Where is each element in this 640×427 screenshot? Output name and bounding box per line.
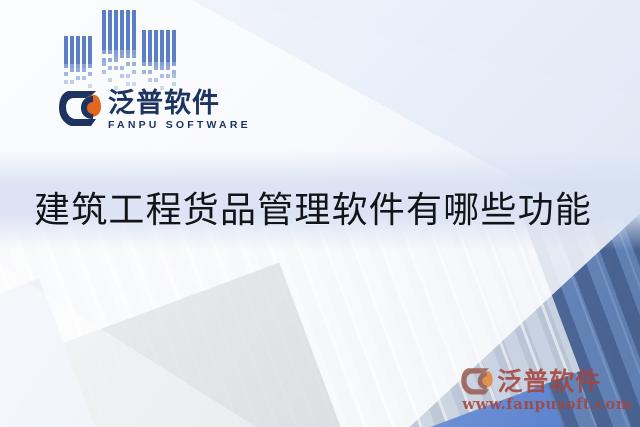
watermark: 泛普软件 www.fanpusoft.com xyxy=(460,366,632,413)
promo-banner: 泛普软件 FANPU SOFTWARE 建筑工程货品管理软件有哪些功能 泛普软件… xyxy=(0,0,640,427)
logo-name-cn: 泛普软件 xyxy=(108,89,251,118)
page-title: 建筑工程货品管理软件有哪些功能 xyxy=(34,188,592,234)
watermark-url: www.fanpusoft.com xyxy=(462,395,632,413)
logo-name-en: FANPU SOFTWARE xyxy=(108,119,251,132)
pixel-skyline-icon xyxy=(64,8,214,94)
watermark-row: 泛普软件 xyxy=(460,366,601,396)
fanpu-swoosh-icon xyxy=(58,88,102,128)
brand-logo: 泛普软件 FANPU SOFTWARE xyxy=(58,88,251,132)
fanpu-swoosh-icon xyxy=(460,366,494,396)
logo-wordmark: 泛普软件 FANPU SOFTWARE xyxy=(108,88,251,132)
watermark-name-cn: 泛普软件 xyxy=(497,368,601,395)
